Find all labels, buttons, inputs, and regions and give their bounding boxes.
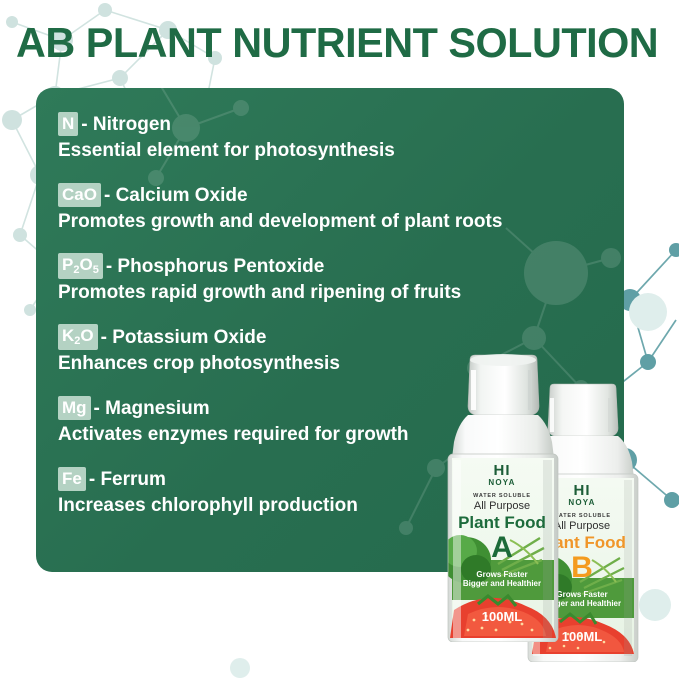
nutrient-name: - Potassium Oxide [101,325,267,351]
nutrient-name: - Calcium Oxide [104,183,248,209]
product-bottles: HI NOYA WATER SOLUBLE All Purpose Plant … [420,352,679,679]
nutrient-name: - Ferrum [89,467,166,493]
page-title: AB PLANT NUTRIENT SOLUTION [16,17,666,69]
nutrient-description: Essential element for photosynthesis [58,139,614,163]
nutrient-item-nitrogen: N- Nitrogen Essential element for photos… [58,112,614,163]
chemical-symbol-badge: CaO [58,183,101,207]
chemical-symbol-badge: Fe [58,467,86,491]
nutrient-heading: K2O- Potassium Oxide [58,325,614,351]
nutrient-name: - Magnesium [94,396,210,422]
bottle-a-artwork [440,352,566,642]
chemical-symbol-badge: K2O [58,324,98,350]
chemical-symbol-badge: Mg [58,396,91,420]
chemical-symbol-badge: P2O5 [58,253,103,279]
nutrient-description: Promotes rapid growth and ripening of fr… [58,281,614,305]
product-bottle-a[interactable]: HI NOYA WATER SOLUBLE All Purpose Plant … [440,352,566,642]
nutrient-name: - Phosphorus Pentoxide [106,254,325,280]
nutrient-heading: N- Nitrogen [58,112,614,138]
chemical-symbol-badge: N [58,112,78,136]
nutrient-item-phosphorus-pentoxide: P2O5- Phosphorus Pentoxide Promotes rapi… [58,254,614,305]
nutrient-description: Promotes growth and development of plant… [58,210,614,234]
nutrient-name: - Nitrogen [81,112,171,138]
nutrient-heading: CaO- Calcium Oxide [58,183,614,209]
nutrient-item-calcium-oxide: CaO- Calcium Oxide Promotes growth and d… [58,183,614,234]
nutrient-heading: P2O5- Phosphorus Pentoxide [58,254,614,280]
product-infographic: AB PLANT NUTRIENT SOLUTION [0,0,679,679]
